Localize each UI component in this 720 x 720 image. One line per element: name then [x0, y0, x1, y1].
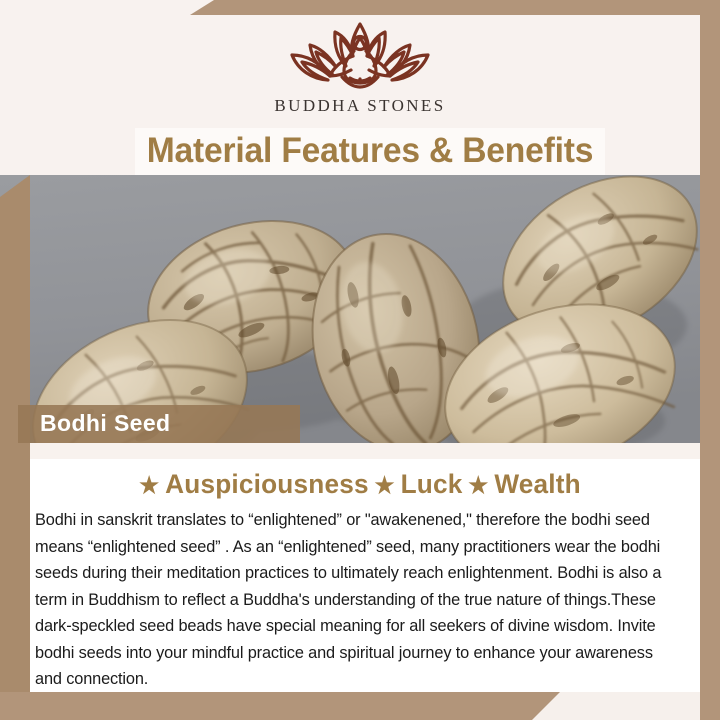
divider-strip	[0, 443, 720, 459]
star-icon: ★	[139, 472, 159, 498]
seed-label-banner: Bodhi Seed	[18, 405, 300, 443]
description-paragraph: Bodhi in sanskrit translates to “enlight…	[35, 507, 673, 693]
hero-image	[0, 175, 720, 443]
frame-left-bar	[0, 175, 30, 720]
bodhi-seeds-photo	[0, 175, 720, 443]
benefit-item-auspiciousness: Auspiciousness	[165, 469, 369, 499]
header-section: BUDDHA STONES Material Features & Benefi…	[0, 0, 720, 175]
lotus-meditation-figure-icon	[274, 18, 446, 94]
star-icon: ★	[468, 472, 488, 498]
brand-name: BUDDHA STONES	[0, 96, 720, 116]
product-infographic: BUDDHA STONES Material Features & Benefi…	[0, 0, 720, 720]
seed-label-text: Bodhi Seed	[40, 405, 171, 442]
frame-bottom-bar	[0, 692, 560, 720]
benefits-headline: ★Auspiciousness★Luck★Wealth	[11, 469, 709, 500]
frame-right-bar	[700, 0, 720, 720]
brand-logo: BUDDHA STONES	[0, 18, 720, 116]
benefit-item-wealth: Wealth	[494, 469, 581, 499]
content-section: ★Auspiciousness★Luck★Wealth Bodhi in san…	[0, 459, 720, 692]
title-band: Material Features & Benefits	[135, 128, 605, 175]
star-icon: ★	[375, 472, 395, 498]
benefit-item-luck: Luck	[401, 469, 463, 499]
page-title: Material Features & Benefits	[144, 128, 595, 173]
